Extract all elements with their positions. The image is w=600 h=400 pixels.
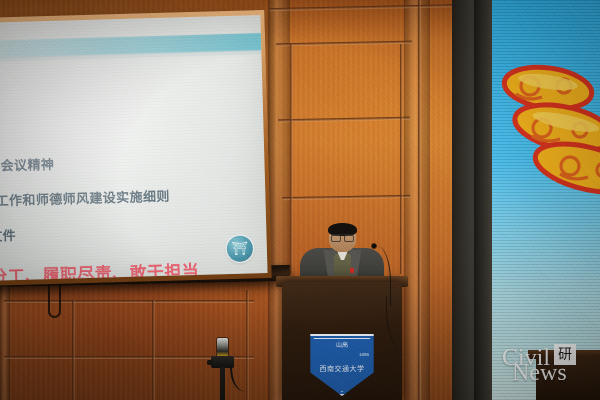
wall-seam [152, 300, 155, 400]
slide-bullet: 想政治工作和师德师风建设实施细则 [0, 183, 266, 211]
led-wall-bezel-right [474, 0, 492, 400]
wall-seam [418, 0, 421, 400]
dragon-ornament-icon [492, 42, 600, 272]
photo-stage: 工作要求 神 治工作会议精神 想政治工作和师德师风建设实施细则 系列文件 服从分… [0, 0, 600, 400]
emblem-name-text: 西南交通大学 [306, 364, 378, 374]
seal-glyph: ⛩ [231, 242, 248, 255]
tripod-pan-handle [230, 363, 252, 393]
led-video-wall [492, 0, 600, 400]
slide-bullet: 神 [0, 113, 264, 140]
wall-seam [400, 44, 403, 274]
projection-screen: 工作要求 神 治工作会议精神 想政治工作和师德师风建设实施细则 系列文件 服从分… [0, 15, 268, 281]
tripod-knob [207, 360, 213, 365]
smartphone-camera [217, 338, 228, 357]
tripod-leg [220, 367, 225, 400]
emblem-year: 1896 [359, 352, 369, 357]
lapel-badge [350, 268, 354, 273]
slide-title: 工作要求 [0, 63, 262, 88]
emblem-top-text: 山高 [306, 340, 378, 349]
wall-seam [72, 300, 75, 400]
eyeglasses-icon [331, 234, 354, 240]
hanging-cable [48, 282, 61, 318]
wall-seam [290, 44, 293, 274]
slide-bullet: 系列文件 [0, 218, 267, 245]
wall-pilaster [0, 286, 10, 400]
slide-bullet: 治工作会议精神 [0, 148, 265, 175]
wall-seam [4, 300, 254, 303]
microphone-icon [372, 244, 376, 248]
foreground-furniture [536, 356, 600, 400]
lectern-emblem: 山高 1896 西南交通大学 [306, 334, 378, 396]
camera-tripod [200, 338, 248, 400]
